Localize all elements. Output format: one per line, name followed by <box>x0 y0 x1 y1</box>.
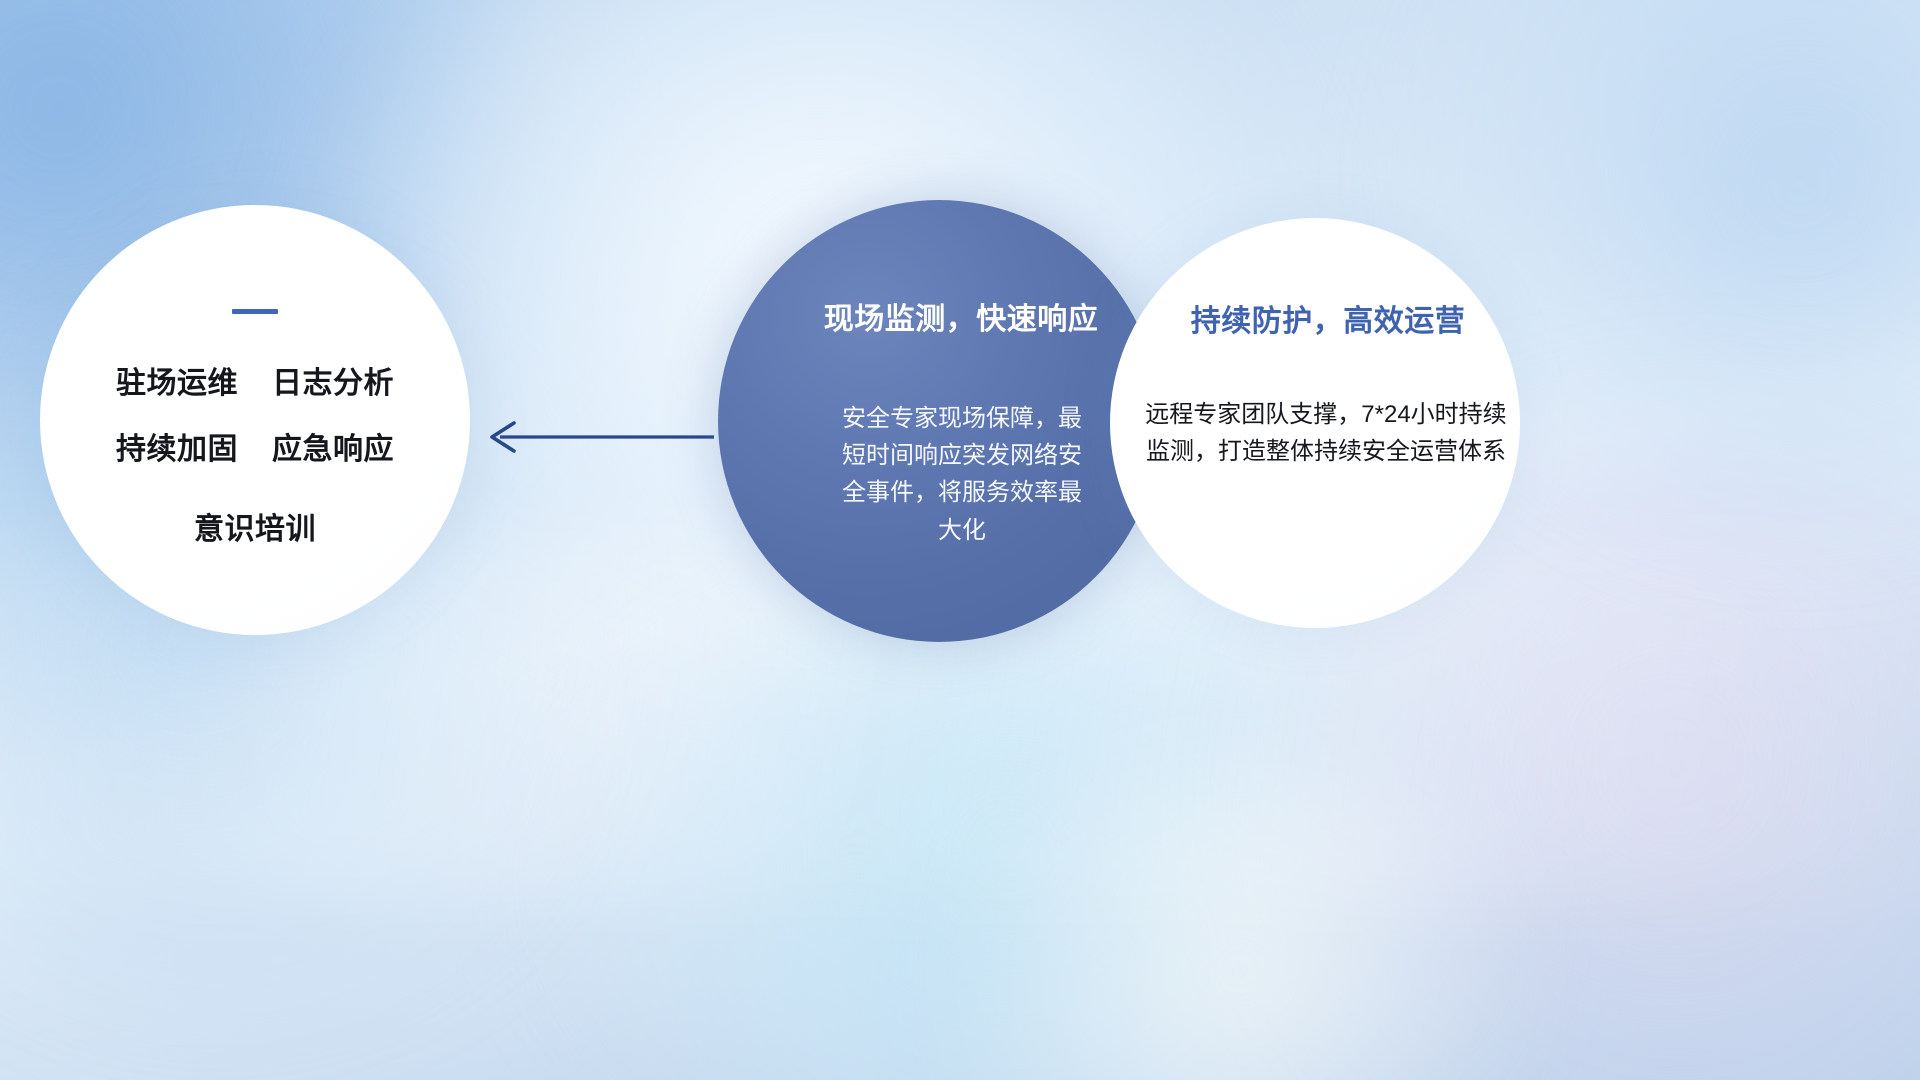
middle-circle-title: 现场监测，快速响应 <box>780 294 1099 338</box>
left-circle-item-1b: 日志分析 <box>272 358 394 402</box>
left-circle-item-3: 意识培训 <box>194 504 316 548</box>
flow-arrow-icon <box>470 415 720 459</box>
left-circle-item-2a: 持续加固 <box>116 424 238 468</box>
right-circle-content: 持续防护，高效运营 远程专家团队支撑，7*24小时持续监测，打造整体持续安全运营… <box>1110 218 1520 628</box>
left-circle-row-3: 意识培训 <box>194 504 316 548</box>
left-circle-item-2b: 应急响应 <box>272 424 394 468</box>
flow-arrow <box>470 415 720 464</box>
left-circle-content: 驻场运维 日志分析 持续加固 应急响应 意识培训 <box>40 205 470 635</box>
middle-circle-content: 现场监测，快速响应 安全专家现场保障，最短时间响应突发网络安全事件，将服务效率最… <box>718 200 1160 642</box>
right-circle-title: 持续防护，高效运营 <box>1165 296 1466 340</box>
left-circle-divider <box>232 309 278 314</box>
left-circle-row-1: 驻场运维 日志分析 <box>116 358 394 402</box>
right-circle-body: 远程专家团队支撑，7*24小时持续监测，打造整体持续安全运营体系 <box>1119 396 1511 470</box>
left-circle-item-1a: 驻场运维 <box>116 358 238 402</box>
middle-circle-body: 安全专家现场保障，最短时间响应突发网络安全事件，将服务效率最大化 <box>789 400 1089 549</box>
left-circle-row-2: 持续加固 应急响应 <box>116 424 394 468</box>
